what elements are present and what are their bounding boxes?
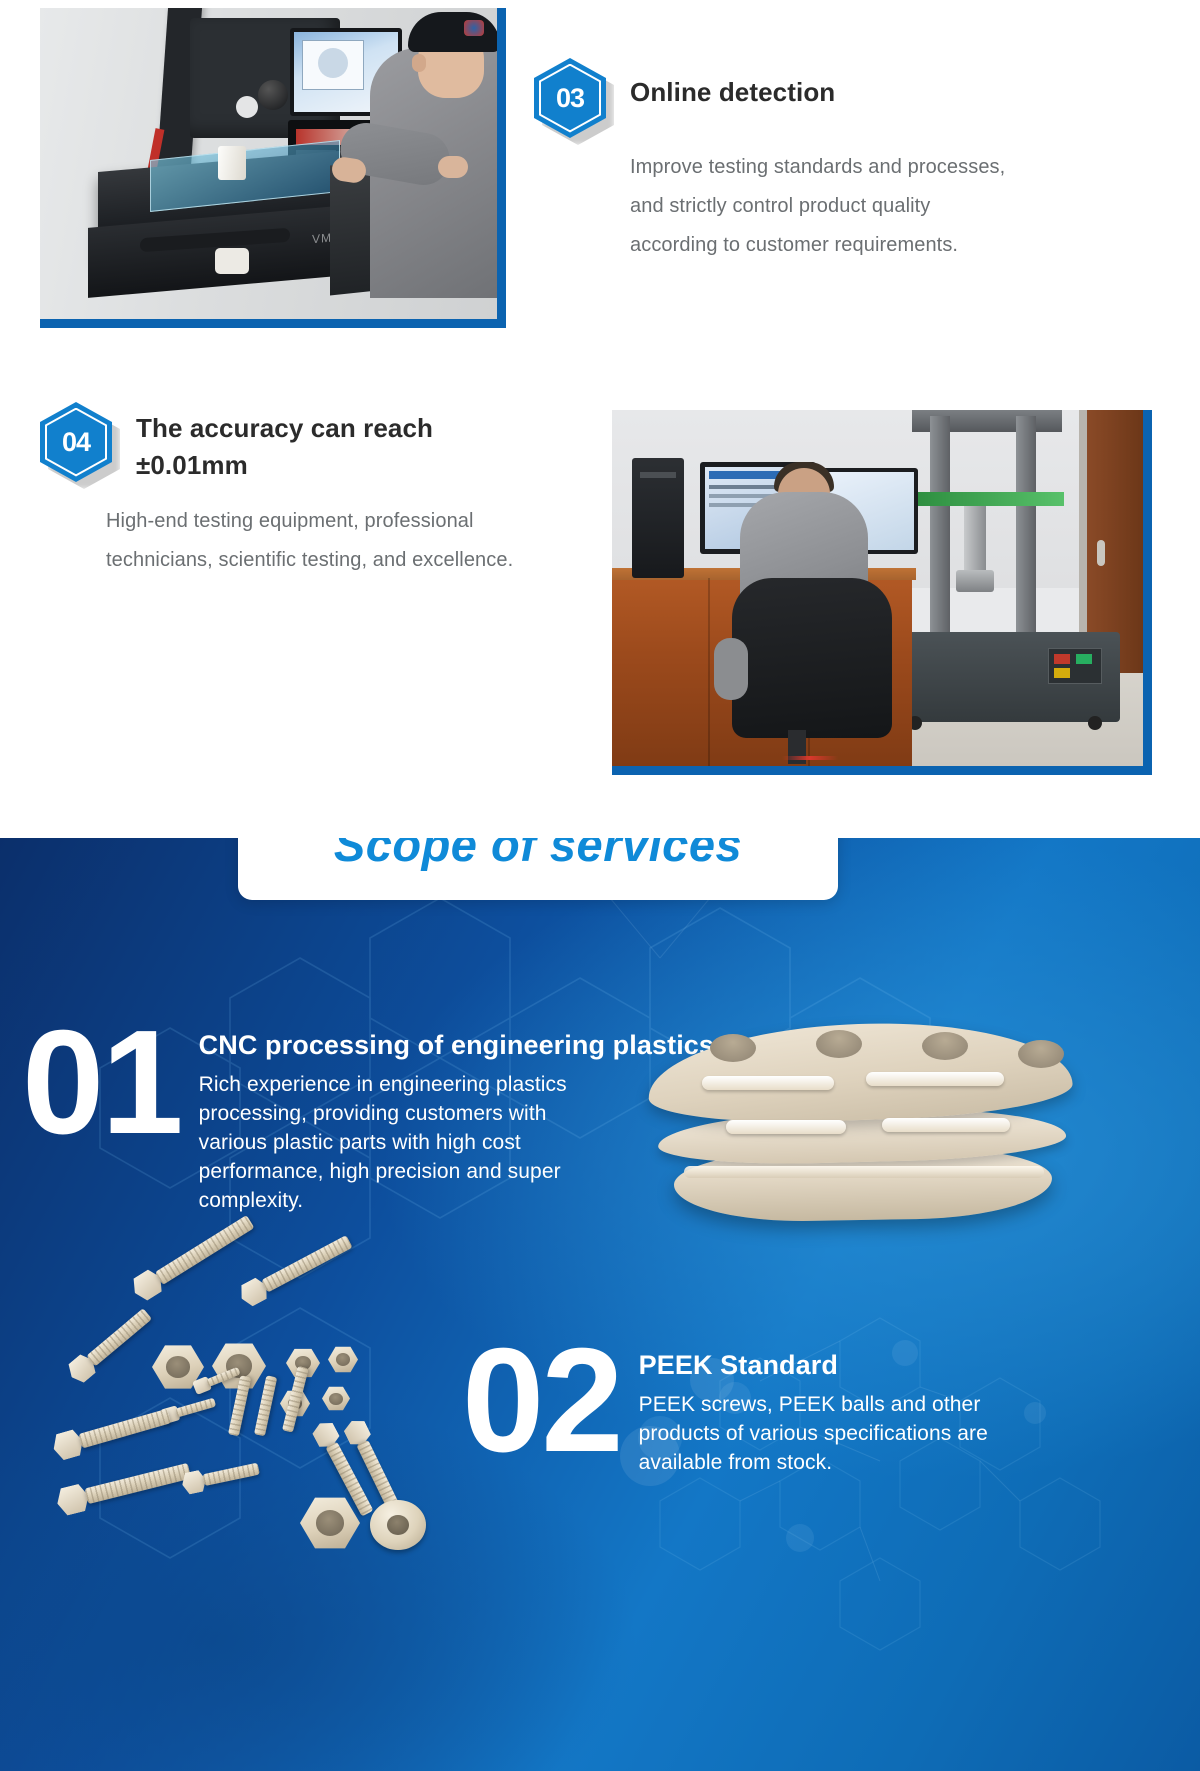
mode-button — [1054, 668, 1070, 678]
hexagon-number: 04 — [40, 402, 112, 482]
operator-hand-right — [438, 156, 468, 178]
feature-accuracy: 04 The accuracy can reach ±0.01mm High-e… — [40, 402, 540, 580]
peek-hole — [922, 1032, 968, 1060]
service-number: 02 — [462, 1336, 621, 1466]
promo-page: VMZ300 — [0, 0, 1200, 1771]
feature-04-title: The accuracy can reach ±0.01mm — [136, 402, 540, 484]
bolt-thread — [203, 1463, 260, 1486]
focus-dial — [236, 96, 258, 118]
photo-tensile-tester-image — [612, 410, 1143, 766]
peek-hex-nut — [300, 1496, 360, 1550]
nut-bore — [166, 1356, 191, 1378]
measured-part — [218, 146, 246, 180]
feature-04-header: 04 The accuracy can reach ±0.01mm — [40, 402, 540, 484]
service-text-block: CNC processing of engineering plastics R… — [199, 1018, 714, 1216]
feature-03-header: 03 Online detection — [534, 58, 1034, 138]
peek-hole — [816, 1030, 862, 1058]
pc-drive-slot — [640, 472, 676, 478]
scope-of-services-section: Scope of services 01 CNC processing of e… — [0, 838, 1200, 1771]
bolt-thread — [85, 1463, 192, 1504]
operator-ear — [412, 54, 426, 72]
peek-hole — [710, 1034, 756, 1062]
door-handle — [1097, 540, 1105, 566]
peek-hole — [1018, 1040, 1064, 1068]
service-title: PEEK Standard — [639, 1350, 1019, 1381]
bolt-shaft — [79, 1409, 172, 1449]
service-title: CNC processing of engineering plastics — [199, 1030, 714, 1061]
bolt-shaft — [203, 1463, 260, 1486]
software-row-1 — [709, 485, 779, 489]
service-body: PEEK screws, PEEK balls and other produc… — [639, 1391, 1019, 1478]
washer-bore — [387, 1515, 409, 1535]
pin-shaft — [254, 1375, 277, 1436]
screw-shaft — [175, 1398, 216, 1418]
peek-slot — [702, 1076, 834, 1090]
service-text-block: PEEK Standard PEEK screws, PEEK balls an… — [639, 1336, 1019, 1478]
photo-tensile-tester — [612, 410, 1152, 775]
nut-bore — [329, 1393, 342, 1405]
peek-part-ridge — [684, 1166, 1044, 1178]
nut-bore — [336, 1353, 350, 1366]
bolt-thread — [86, 1308, 152, 1366]
features-section: VMZ300 — [0, 0, 1200, 838]
caster-right — [1088, 716, 1102, 730]
desk-seam-1 — [708, 578, 710, 766]
scope-title-card: Scope of services — [238, 838, 838, 900]
hexagon-number: 03 — [534, 58, 606, 138]
cad-part-outline — [318, 48, 348, 78]
hexagon-badge-icon: 04 — [40, 402, 112, 482]
photo-inspection-machine-image: VMZ300 — [40, 8, 497, 319]
tester-lower-grip — [956, 570, 994, 592]
feature-03-body: Improve testing standards and processes,… — [630, 148, 1020, 265]
service-item-peek-standard: 02 PEEK Standard PEEK screws, PEEK balls… — [462, 1336, 1019, 1478]
stop-button — [1054, 654, 1070, 664]
image-peek-machined-parts — [640, 1018, 1080, 1258]
pin-thread — [254, 1375, 277, 1436]
peek-slot — [866, 1072, 1004, 1086]
bolt-thread — [79, 1409, 172, 1449]
feature-04-body: High-end testing equipment, professional… — [106, 502, 536, 580]
scope-title: Scope of services — [334, 838, 742, 872]
peek-washer — [370, 1500, 426, 1550]
floor-reflection — [782, 756, 838, 760]
tester-indicator-strip — [912, 492, 1064, 506]
tester-column-right — [1016, 416, 1036, 666]
inspection-scene: VMZ300 — [40, 8, 497, 319]
bolt-shaft — [85, 1463, 192, 1504]
tensile-lab-scene — [612, 410, 1143, 766]
start-button — [1076, 654, 1092, 664]
feature-03-title: Online detection — [630, 58, 835, 111]
adjust-knob — [258, 80, 288, 110]
nut-bore — [316, 1510, 345, 1536]
bolt-shaft — [86, 1308, 152, 1366]
photo-inspection-machine: VMZ300 — [40, 8, 506, 328]
cap-logo — [464, 20, 484, 36]
image-peek-fasteners — [40, 1278, 460, 1568]
peek-slot — [882, 1118, 1010, 1132]
office-chair — [732, 578, 892, 738]
service-body: Rich experience in engineering plastics … — [199, 1071, 599, 1216]
tester-column-left — [930, 416, 950, 666]
service-item-cnc-processing: 01 CNC processing of engineering plastic… — [22, 1018, 714, 1216]
service-number: 01 — [22, 1018, 181, 1148]
screw-thread — [175, 1398, 216, 1418]
roller-part — [215, 248, 249, 274]
chair-armrest — [714, 638, 748, 700]
peek-hex-nut — [322, 1386, 350, 1411]
hexagon-badge-icon: 03 — [534, 58, 606, 138]
peek-part-upper-band — [646, 1017, 1073, 1128]
peek-hex-nut — [328, 1346, 358, 1373]
feature-online-detection: 03 Online detection Improve testing stan… — [534, 58, 1034, 265]
peek-slot — [726, 1120, 846, 1134]
